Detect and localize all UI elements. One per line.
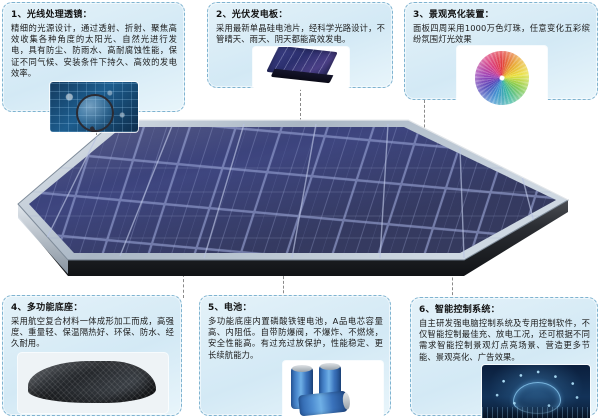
- panel-4-body: 采用航空复合材料一体成形加工而成，高强度、重量轻、保温隔热好、环保、防水、经久耐…: [11, 316, 174, 350]
- panel-2-body: 采用最新单晶硅电池片，经科学光路设计，不管晴天、雨天、阴天都能高效发电。: [216, 23, 385, 45]
- carbon-fiber-shell-icon: [28, 361, 156, 403]
- feature-panel-6[interactable]: 6、智能控制系统： 自主研发强电脑控制系统及专用控制软件，不仅智能控制最佳充、放…: [410, 297, 598, 416]
- battery-cap-2: [320, 363, 340, 370]
- panel-2-thumbnail-solar-cell-icon: [253, 47, 349, 89]
- panel-1-body: 精细的光源设计，通过透射、折射、聚焦高效收集各种角度的太阳光、自然光进行发电，具…: [11, 23, 177, 79]
- feature-panel-5[interactable]: 5、电池： 多功能底座内置磷酸铁锂电池，A品电芯容量高、内阻低。自带防爆阀，不爆…: [199, 295, 391, 416]
- product-feature-diagram: 1、光线处理透镜： 精细的光源设计，通过透射、折射、聚焦高效收集各种角度的太阳光…: [0, 0, 600, 418]
- feature-panel-3[interactable]: 3、景观亮化装置： 面板四周采用1000万色灯珠，任意变化五彩缤纷氛围灯光效果: [404, 2, 598, 100]
- panel-5-thumbnail-battery-icon: [283, 361, 383, 418]
- panel-5-title: 5、电池：: [208, 302, 383, 314]
- panel-2-title: 2、光伏发电板：: [216, 9, 385, 21]
- battery-cell-icon-3: [298, 390, 348, 416]
- color-wheel-icon: [475, 51, 529, 105]
- panel-4-title: 4、多功能底座：: [11, 302, 174, 314]
- city-skyline-icon: [482, 407, 590, 418]
- panel-5-body: 多功能底座内置磷酸铁锂电池，A品电芯容量高、内阻低。自带防爆阀，不爆炸、不燃烧，…: [208, 316, 383, 361]
- feature-panel-4[interactable]: 4、多功能底座： 采用航空复合材料一体成形加工而成，高强度、重量轻、保温隔热好、…: [2, 295, 182, 416]
- panel-1-thumbnail-magnifier-icon: [50, 82, 138, 132]
- panel-1-title: 1、光线处理透镜：: [11, 9, 177, 21]
- panel-3-body: 面板四周采用1000万色灯珠，任意变化五彩缤纷氛围灯光效果: [413, 23, 590, 45]
- panel-6-thumbnail-smart-city-icon: [482, 365, 590, 418]
- panel-6-body: 自主研发强电脑控制系统及专用控制软件，不仅智能控制最佳充、放电工况，还可根据不同…: [419, 318, 590, 363]
- panel-3-title: 3、景观亮化装置：: [413, 9, 590, 21]
- panel-6-title: 6、智能控制系统：: [419, 304, 590, 316]
- feature-panel-1[interactable]: 1、光线处理透镜： 精细的光源设计，通过透射、折射、聚焦高效收集各种角度的太阳光…: [2, 2, 185, 112]
- panel-4-thumbnail-carbon-base-icon: [18, 353, 168, 413]
- magnifier-lens-icon: [76, 94, 114, 132]
- panel-3-thumbnail-color-wheel-icon: [457, 46, 547, 110]
- feature-panel-2[interactable]: 2、光伏发电板： 采用最新单晶硅电池片，经科学光路设计，不管晴天、雨天、阴天都能…: [207, 2, 393, 88]
- hero-solar-panel-image: [12, 108, 588, 298]
- battery-cap-1: [292, 365, 312, 372]
- battery-cap-3: [342, 392, 351, 410]
